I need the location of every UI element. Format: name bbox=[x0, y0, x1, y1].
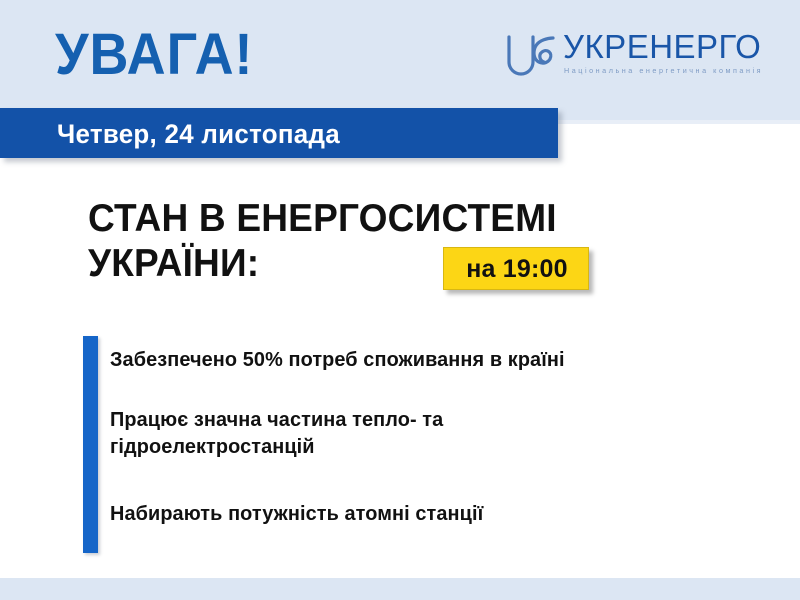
list-item: Працює значна частина тепло- та гідроеле… bbox=[110, 406, 566, 460]
ukrenergo-tagline: Національна енергетична компанія bbox=[564, 66, 763, 75]
date-banner: Четвер, 24 листопада bbox=[0, 108, 558, 158]
list-item: Забезпечено 50% потреб споживання в краї… bbox=[110, 346, 731, 373]
ukrenergo-logo: УКРЕНЕРГО Національна енергетична компан… bbox=[503, 30, 765, 88]
attention-heading: УВАГА! bbox=[55, 26, 253, 84]
announcement-slide: УВАГА! УКРЕНЕРГО Національна енергетична… bbox=[0, 0, 800, 600]
ukrenergo-leaf-emblem-icon bbox=[503, 32, 559, 82]
ukrenergo-wordmark: УКРЕНЕРГО bbox=[563, 30, 761, 64]
time-badge-text: на 19:00 bbox=[444, 256, 590, 282]
time-badge: на 19:00 bbox=[443, 247, 589, 290]
page-title-line-1: СТАН В ЕНЕРГОСИСТЕМІ bbox=[88, 196, 658, 241]
footer-band bbox=[0, 578, 800, 600]
bullet-accent-bar bbox=[83, 336, 98, 553]
date-banner-text: Четвер, 24 листопада bbox=[57, 121, 340, 148]
list-item: Набирають потужність атомні станції bbox=[110, 500, 731, 527]
